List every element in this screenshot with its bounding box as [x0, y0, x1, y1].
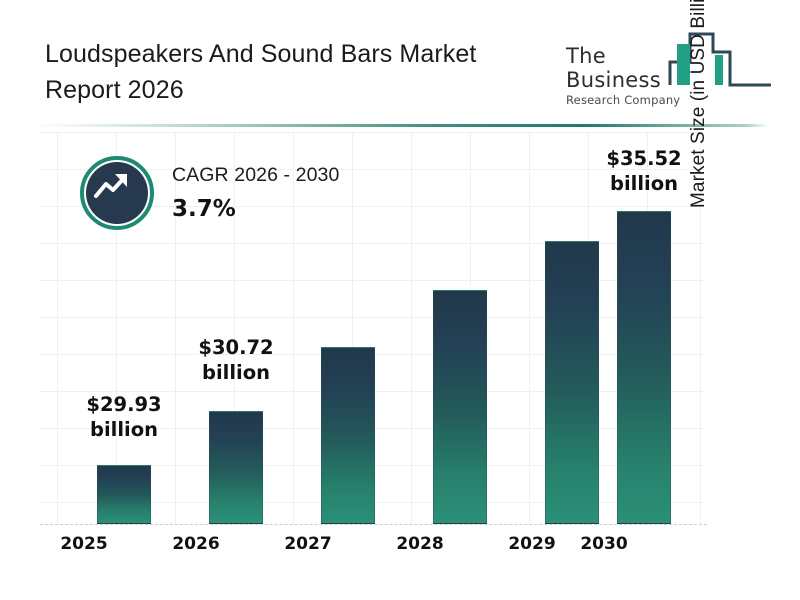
bar-2025[interactable] — [97, 465, 151, 524]
cagr-period-label: CAGR 2026 - 2030 — [172, 164, 339, 187]
xtick-2027: 2027 — [278, 534, 338, 554]
logo-line-2: Research Company — [566, 93, 706, 107]
header: Loudspeakers And Sound Bars Market Repor… — [0, 0, 800, 120]
company-logo: The Business Research Company — [558, 28, 773, 100]
value-label-2025: $29.93 billion — [54, 392, 194, 442]
cagr-value: 3.7% — [172, 196, 339, 222]
bar-2026[interactable] — [209, 411, 263, 524]
trending-up-icon — [92, 170, 132, 209]
value-amount: $30.72 — [166, 335, 306, 360]
bar-2027[interactable] — [321, 347, 375, 524]
page-title: Loudspeakers And Sound Bars Market Repor… — [45, 36, 545, 108]
xtick-2028: 2028 — [390, 534, 450, 554]
x-axis-baseline — [40, 524, 707, 525]
bar-2028[interactable] — [433, 290, 487, 524]
xtick-2030: 2030 — [574, 534, 634, 554]
header-divider — [34, 124, 769, 127]
xtick-2025: 2025 — [54, 534, 114, 554]
bar-2030[interactable] — [617, 211, 671, 524]
bar-chart-logo-mark — [668, 28, 773, 90]
xtick-2026: 2026 — [166, 534, 226, 554]
xtick-2029: 2029 — [502, 534, 562, 554]
value-unit: billion — [54, 417, 194, 442]
y-axis-label: Market Size (in USD Billion) — [688, 0, 710, 208]
bar-2029[interactable] — [545, 241, 599, 524]
cagr-text-block: CAGR 2026 - 2030 3.7% — [172, 164, 339, 222]
value-label-2026: $30.72 billion — [166, 335, 306, 385]
value-amount: $29.93 — [54, 392, 194, 417]
value-unit: billion — [166, 360, 306, 385]
